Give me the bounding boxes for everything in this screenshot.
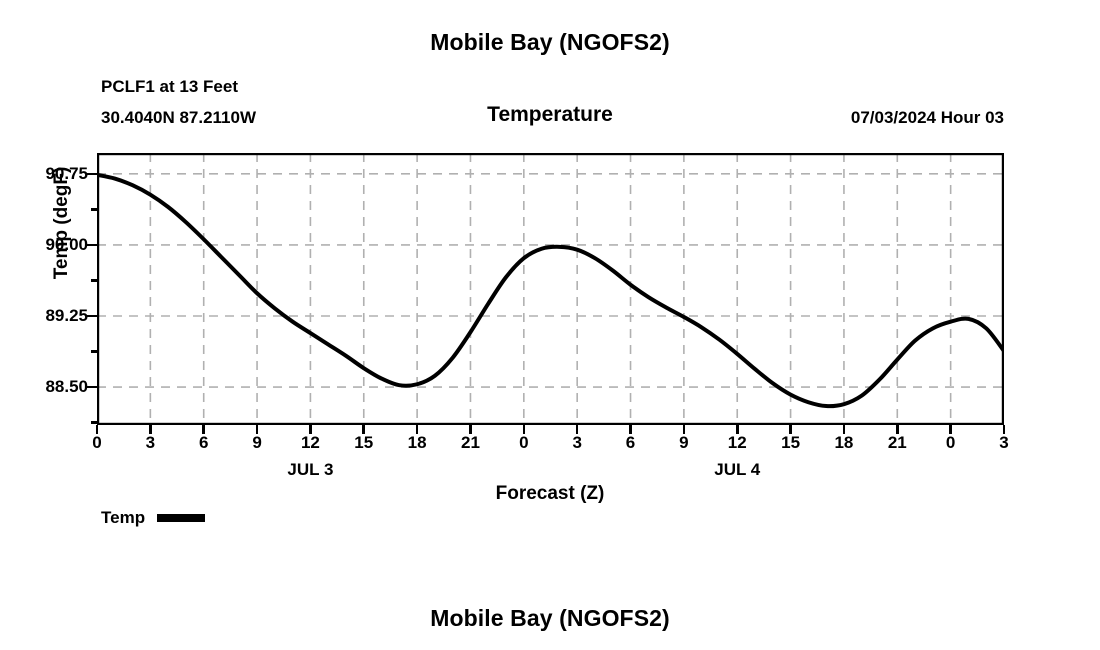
x-axis-tick-mark: [1003, 425, 1006, 434]
chart-page: Mobile Bay (NGOFS2) PCLF1 at 13 Feet 30.…: [0, 0, 1100, 650]
x-axis-tick-mark: [416, 425, 419, 434]
y-axis-tick-mark: [91, 350, 97, 353]
y-axis-tick-mark: [91, 279, 97, 282]
y-axis-tick-mark: [87, 244, 97, 247]
x-axis-tick-mark: [896, 425, 899, 434]
x-axis-tick-mark: [789, 425, 792, 434]
y-axis-tick-mark: [91, 208, 97, 211]
x-axis-tick-mark: [362, 425, 365, 434]
y-axis-tick-mark: [91, 421, 97, 424]
x-axis-tick-mark: [309, 425, 312, 434]
y-axis-tick-mark: [87, 315, 97, 318]
x-axis-tick-mark: [736, 425, 739, 434]
x-axis-tick-mark: [576, 425, 579, 434]
x-axis-tick-mark: [629, 425, 632, 434]
x-axis-tick-mark: [96, 425, 99, 434]
x-axis-tick-mark: [683, 425, 686, 434]
axis-tick-marks: [0, 0, 1100, 650]
x-axis-tick-mark: [469, 425, 472, 434]
y-axis-tick-mark: [87, 386, 97, 389]
x-axis-tick-mark: [843, 425, 846, 434]
x-axis-tick-mark: [523, 425, 526, 434]
y-axis-tick-mark: [87, 173, 97, 176]
x-axis-tick-mark: [256, 425, 259, 434]
x-axis-tick-mark: [949, 425, 952, 434]
x-axis-tick-mark: [149, 425, 152, 434]
x-axis-tick-mark: [202, 425, 205, 434]
